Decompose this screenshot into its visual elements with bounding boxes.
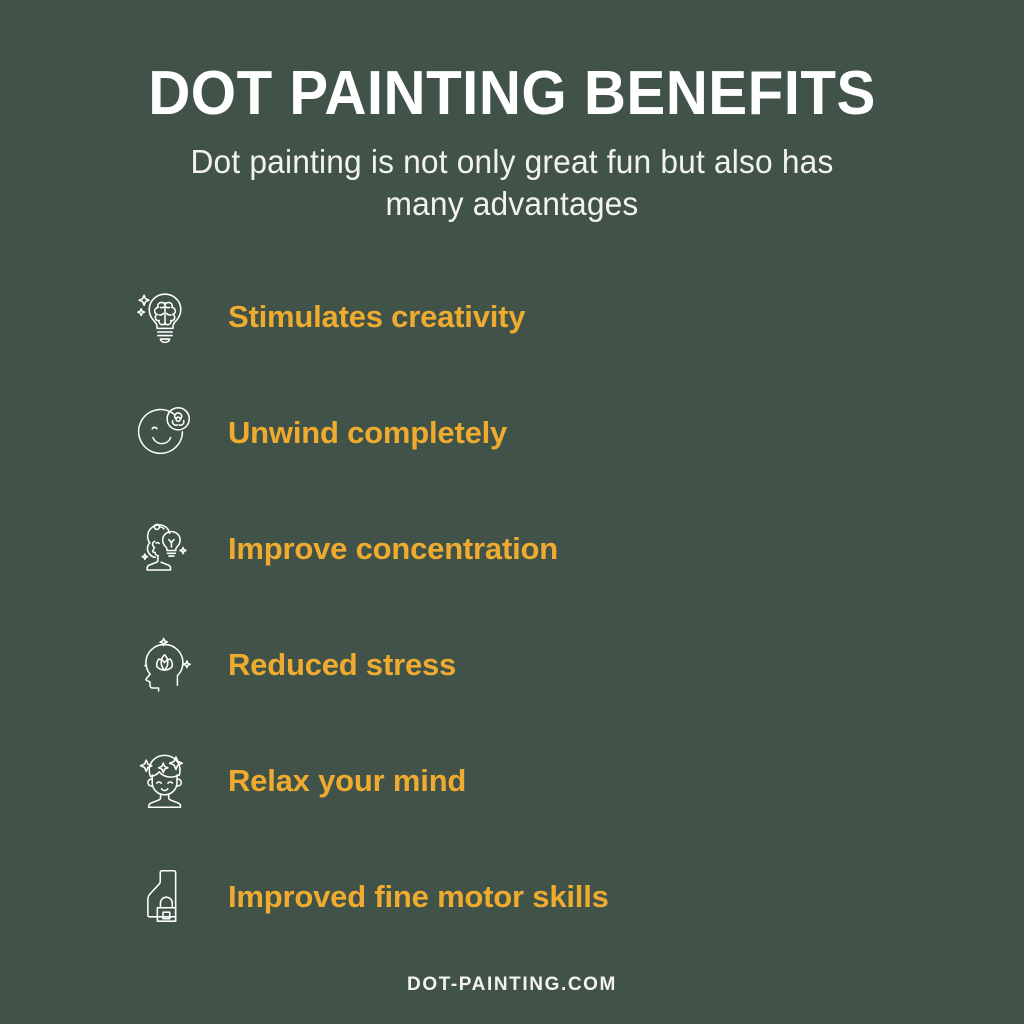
page-title: DOT PAINTING BENEFITS xyxy=(31,62,994,125)
benefit-label: Improved fine motor skills xyxy=(228,881,609,912)
benefit-label: Reduced stress xyxy=(228,649,456,680)
poster-header: DOT PAINTING BENEFITS Dot painting is no… xyxy=(0,62,1024,226)
list-item: Improve concentration xyxy=(128,509,958,587)
woman-head-lightbulb-icon xyxy=(128,511,202,585)
footer-website: DOT-PAINTING.COM xyxy=(0,974,1024,996)
benefit-label: Unwind completely xyxy=(228,417,507,448)
head-lotus-icon xyxy=(128,627,202,701)
smiling-face-flower-icon xyxy=(128,395,202,469)
hand-dotting-tool-icon xyxy=(128,859,202,933)
list-item: Unwind completely xyxy=(128,393,958,471)
list-item: Relax your mind xyxy=(128,741,958,819)
brain-lightbulb-icon xyxy=(128,279,202,353)
benefit-label: Improve concentration xyxy=(228,533,558,564)
list-item: Reduced stress xyxy=(128,625,958,703)
face-sparkles-icon xyxy=(128,743,202,817)
benefits-list: Stimulates creativity xyxy=(128,277,958,935)
benefit-label: Stimulates creativity xyxy=(228,301,525,332)
list-item: Improved fine motor skills xyxy=(128,857,958,935)
benefit-label: Relax your mind xyxy=(228,765,466,796)
page-subtitle: Dot painting is not only great fun but a… xyxy=(157,141,867,225)
list-item: Stimulates creativity xyxy=(128,277,958,355)
infographic-poster: DOT PAINTING BENEFITS Dot painting is no… xyxy=(0,0,1024,1024)
